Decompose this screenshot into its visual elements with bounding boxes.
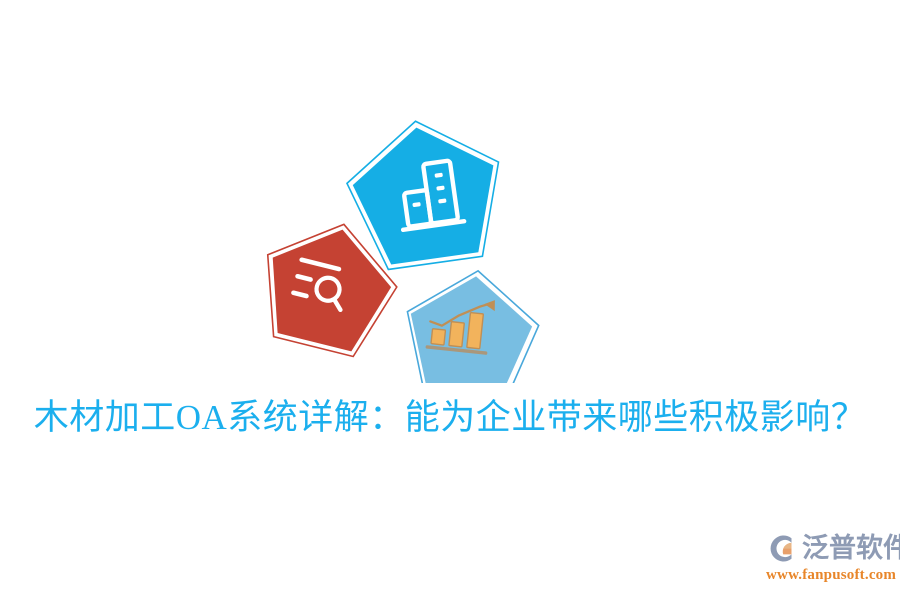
logo-url: www.fanpusoft.com xyxy=(766,567,894,584)
pentagon-cluster-graphic xyxy=(262,118,552,383)
page-title: 木材加工OA系统详解：能为企业带来哪些积极影响？ xyxy=(0,396,900,440)
fanpu-circle-mark-icon xyxy=(766,532,799,565)
logo-wordmark: 泛普软件 xyxy=(802,533,900,563)
logo-row: 泛普软件 xyxy=(766,530,894,566)
banner-canvas: 木材加工OA系统详解：能为企业带来哪些积极影响？ 泛普软件 www.fanpus… xyxy=(0,0,900,600)
pentagon-lightblue xyxy=(399,264,543,383)
brand-logo[interactable]: 泛普软件 www.fanpusoft.com xyxy=(766,530,894,586)
